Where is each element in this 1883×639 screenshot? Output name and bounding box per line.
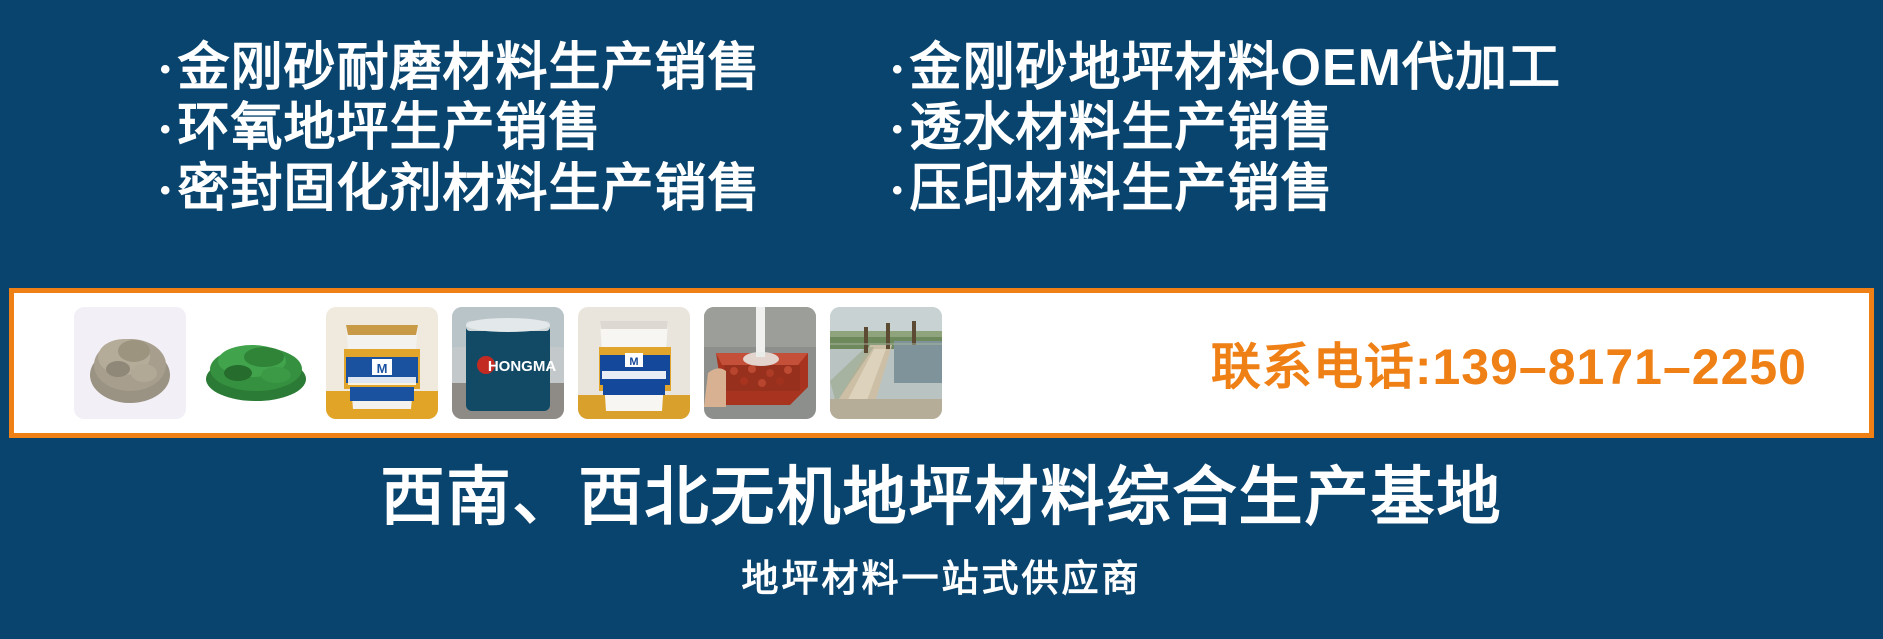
product-strip: M HONGMA bbox=[9, 288, 1874, 438]
hongma-drum-photo: HONGMA bbox=[452, 307, 564, 419]
main-headline: 西南、西北无机地坪材料综合生产基地 bbox=[381, 462, 1503, 532]
permeable-slab-photo bbox=[704, 307, 816, 419]
feature-label: 金刚砂耐磨材料生产销售 bbox=[178, 38, 761, 98]
bullet-icon: • bbox=[892, 176, 904, 206]
features-section: • 金刚砂耐磨材料生产销售 • 环氧地坪生产销售 • 密封固化剂材料生产销售 •… bbox=[0, 0, 1883, 285]
bullet-icon: • bbox=[892, 115, 904, 145]
feature-label: 环氧地坪生产销售 bbox=[178, 98, 602, 158]
bottom-section: 西南、西北无机地坪材料综合生产基地 地坪材料一站式供应商 bbox=[0, 452, 1883, 639]
product-strip-wrapper: M HONGMA bbox=[9, 288, 1874, 438]
feature-label: 透水材料生产销售 bbox=[910, 98, 1334, 158]
bullet-icon: • bbox=[160, 176, 172, 206]
bullet-icon: • bbox=[160, 115, 172, 145]
feature-item: • 压印材料生产销售 bbox=[892, 159, 1712, 219]
features-right-column: • 金刚砂地坪材料OEM代加工 • 透水材料生产销售 • 压印材料生产销售 bbox=[892, 38, 1712, 219]
contact-phone[interactable]: 联系电话:139–8171–2250 bbox=[1211, 327, 1807, 399]
features-left-column: • 金刚砂耐磨材料生产销售 • 环氧地坪生产销售 • 密封固化剂材料生产销售 bbox=[160, 38, 870, 219]
sub-headline: 地坪材料一站式供应商 bbox=[742, 548, 1142, 602]
bullet-icon: • bbox=[160, 55, 172, 85]
epoxy-coating-bucket-photo: M bbox=[578, 307, 690, 419]
stamped-path-photo bbox=[830, 307, 942, 419]
svg-text:M: M bbox=[629, 356, 638, 368]
promotional-banner: • 金刚砂耐磨材料生产销售 • 环氧地坪生产销售 • 密封固化剂材料生产销售 •… bbox=[0, 0, 1883, 639]
product-thumbnail-list: M HONGMA bbox=[74, 307, 942, 419]
sealer-bucket-photo: M bbox=[326, 307, 438, 419]
green-abrasive-powder-photo bbox=[200, 307, 312, 419]
feature-label: 密封固化剂材料生产销售 bbox=[178, 159, 761, 219]
svg-text:HONGMA: HONGMA bbox=[488, 358, 556, 375]
gray-abrasive-powder-photo bbox=[74, 307, 186, 419]
feature-item: • 密封固化剂材料生产销售 bbox=[160, 159, 870, 219]
bullet-icon: • bbox=[892, 55, 904, 85]
svg-text:M: M bbox=[377, 361, 388, 376]
feature-label: 金刚砂地坪材料OEM代加工 bbox=[910, 38, 1561, 98]
feature-item: • 金刚砂地坪材料OEM代加工 bbox=[892, 38, 1712, 98]
feature-label: 压印材料生产销售 bbox=[910, 159, 1334, 219]
feature-item: • 金刚砂耐磨材料生产销售 bbox=[160, 38, 870, 98]
feature-item: • 环氧地坪生产销售 bbox=[160, 98, 870, 158]
feature-item: • 透水材料生产销售 bbox=[892, 98, 1712, 158]
